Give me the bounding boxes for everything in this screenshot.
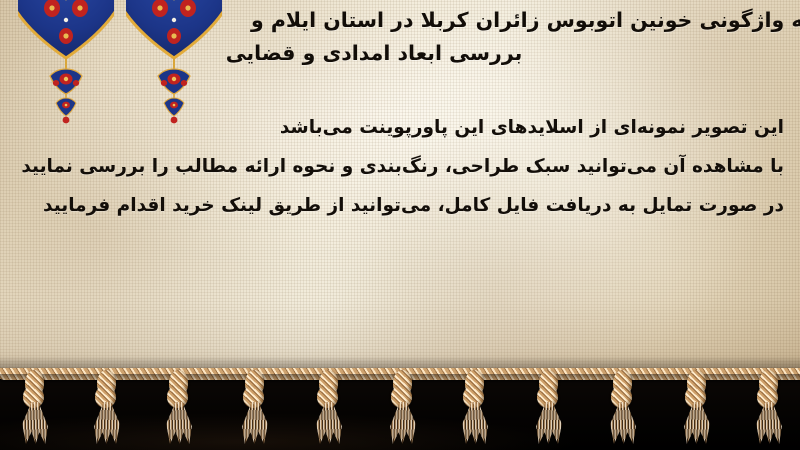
carpet-fringe-band — [0, 368, 800, 450]
fringe-tassel — [238, 370, 272, 444]
body-line-1: این تصویر نمونه‌ای از اسلایدهای این پاور… — [16, 108, 784, 147]
fringe-tassel — [680, 370, 714, 444]
body-line-2: با مشاهده آن می‌توانید سبک طراحی، رنگ‌بن… — [16, 147, 784, 186]
slide-title: لیل حادثه واژگونی خونین اتوبوس زائران کر… — [0, 4, 800, 70]
title-line-1: لیل حادثه واژگونی خونین اتوبوس زائران کر… — [0, 4, 800, 37]
fringe-tassel — [752, 370, 786, 444]
slide-canvas: لیل حادثه واژگونی خونین اتوبوس زائران کر… — [0, 0, 800, 450]
slide-text-layer: لیل حادثه واژگونی خونین اتوبوس زائران کر… — [0, 0, 800, 380]
fringe-tassel — [162, 370, 196, 444]
fringe-tassel — [386, 370, 420, 444]
title-line-2: بررسی ابعاد امدادی و قضایی — [0, 37, 748, 70]
slide-body: این تصویر نمونه‌ای از اسلایدهای این پاور… — [16, 108, 784, 225]
fringe-tassel — [18, 370, 52, 444]
fringe-tassel — [532, 370, 566, 444]
body-line-3: در صورت تمایل به دریافت فایل کامل، می‌تو… — [16, 186, 784, 225]
fringe-tassel — [606, 370, 640, 444]
fringe-tassel — [312, 370, 346, 444]
fringe-tassel — [90, 370, 124, 444]
fringe-tassel — [458, 370, 492, 444]
